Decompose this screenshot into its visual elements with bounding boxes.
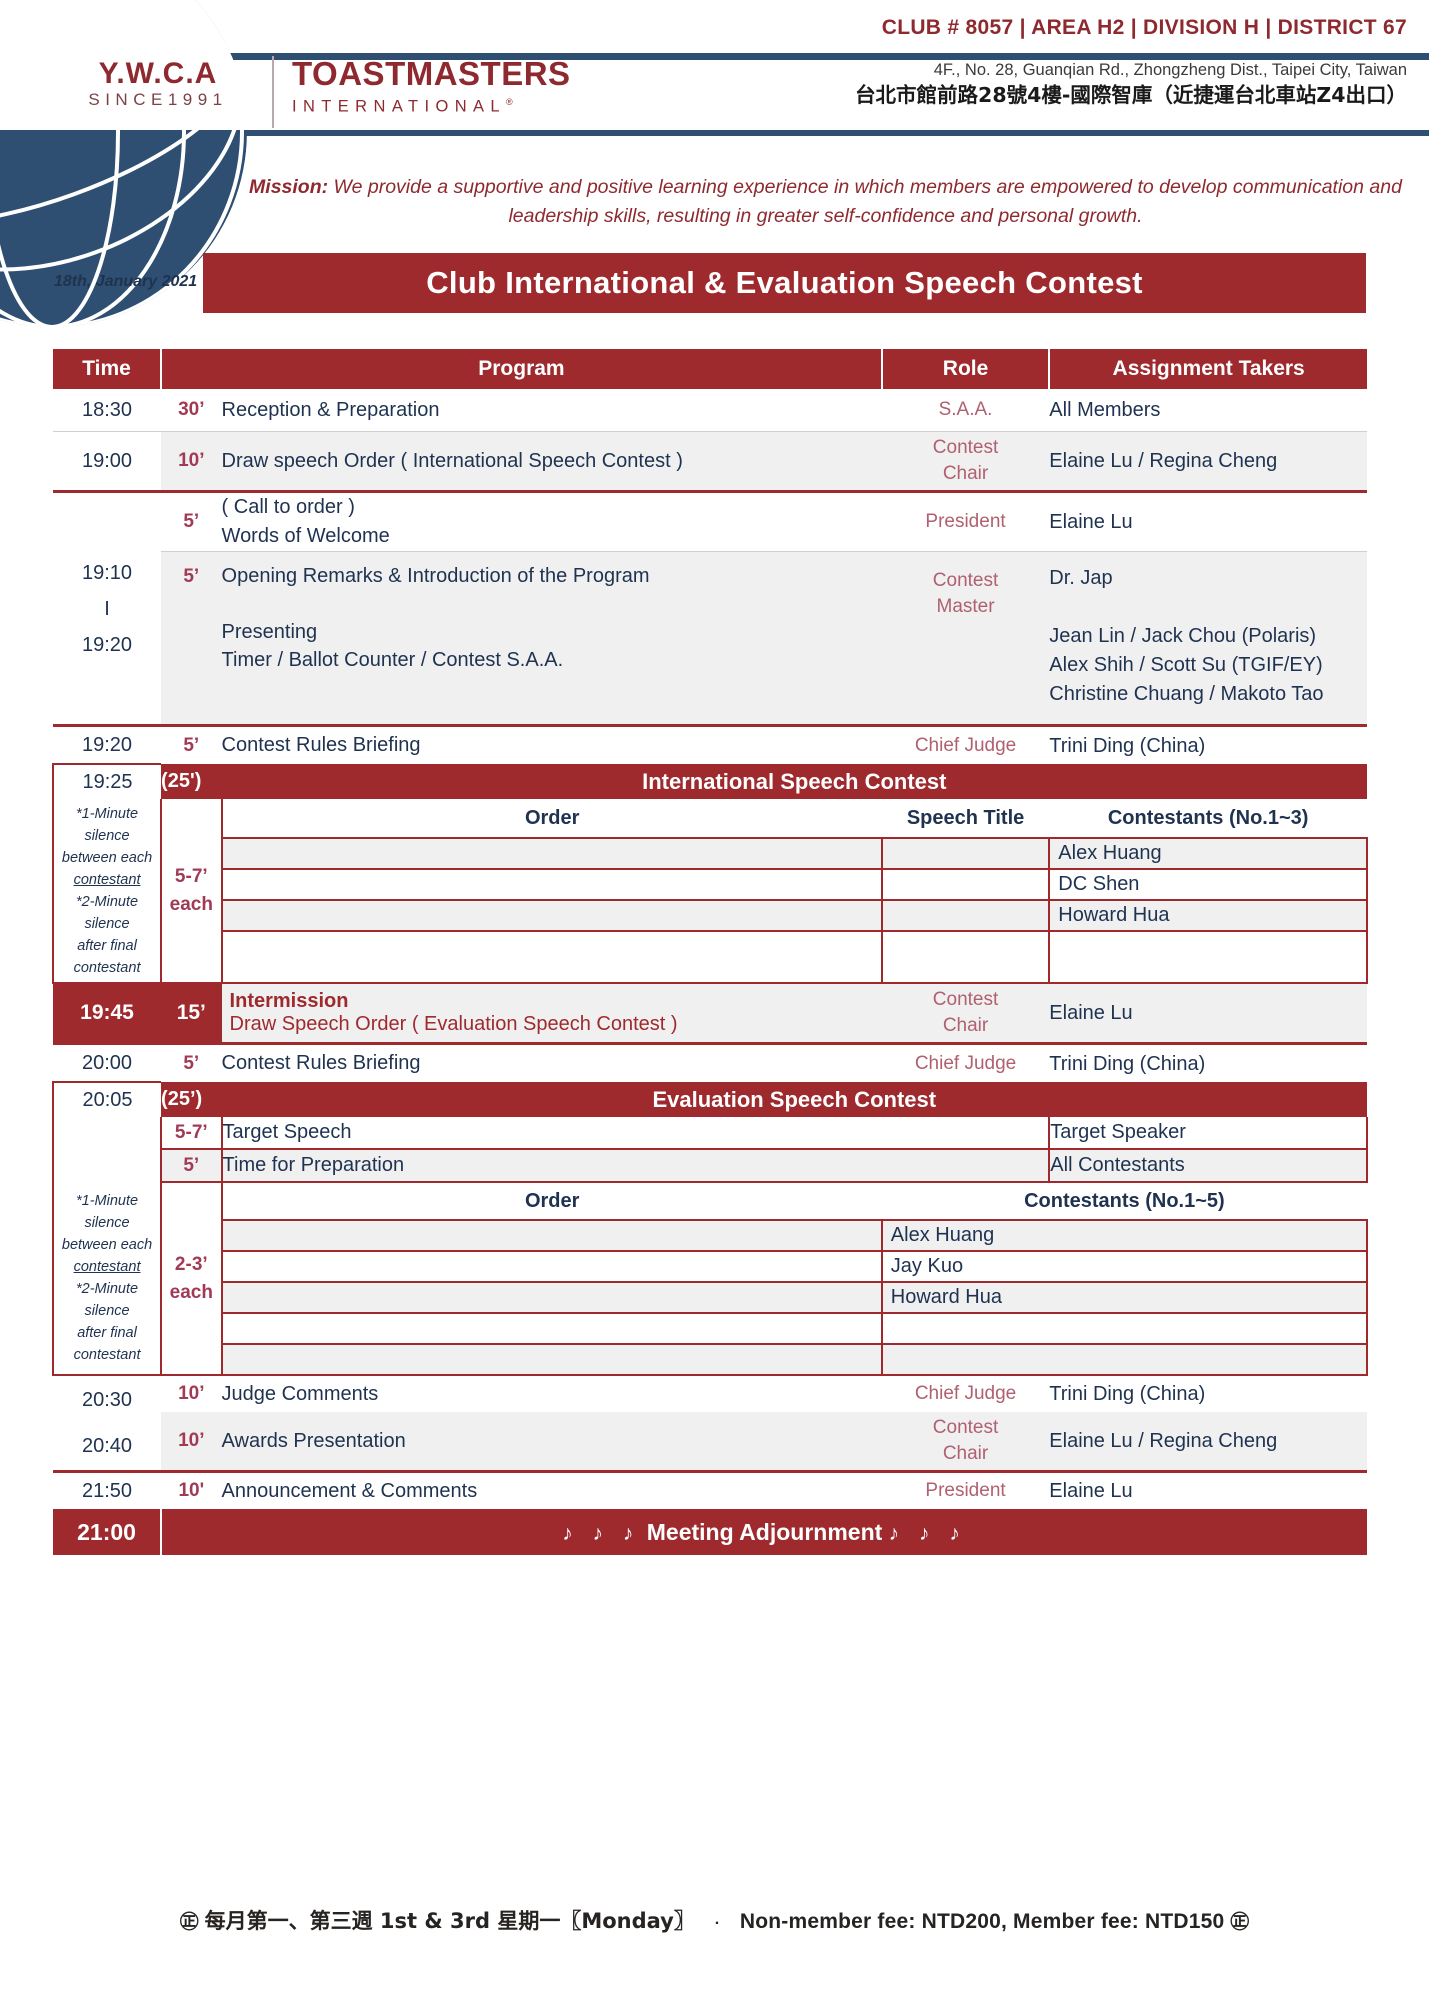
row-program: Reception & Preparation <box>222 389 882 432</box>
intermission-role: Contest Chair <box>882 983 1049 1044</box>
meeting-schedule: 每月第一、第三週 1st & 3rd 星期一〖Monday〗 <box>205 1909 695 1933</box>
intl-contestant-row: Alex Huang <box>53 838 1367 869</box>
adjournment-label: ♪ ♪ ♪ Meeting Adjournment ♪ ♪ ♪ <box>161 1509 1367 1555</box>
eval-contestant-name: Alex Huang <box>882 1220 1367 1251</box>
eval-target-taker: Target Speaker <box>1049 1117 1367 1149</box>
row-role: Contest Chair <box>882 1412 1049 1472</box>
table-row: 5’ Opening Remarks & Introduction of the… <box>53 552 1367 726</box>
eval-duration: 2-3’ each <box>161 1182 222 1375</box>
row-takers: Elaine Lu <box>1049 492 1367 552</box>
table-row: 19:20 5’ Contest Rules Briefing Chief Ju… <box>53 726 1367 765</box>
row-program: ( Call to order ) Words of Welcome <box>222 492 882 552</box>
ywca-logo: Y.W.C.A SINCE1991 <box>58 58 258 110</box>
eval-contestant-name <box>882 1313 1367 1344</box>
eval-order-cell[interactable] <box>222 1344 882 1375</box>
adjournment-time: 21:00 <box>53 1509 161 1555</box>
intermission-subtitle: Draw Speech Order ( Evaluation Speech Co… <box>230 1013 882 1036</box>
row-time: 19:00 <box>53 432 161 492</box>
logo-block: Y.W.C.A SINCE1991 TOASTMASTERS INTERNATI… <box>0 60 1429 130</box>
eval-band-title: Evaluation Speech Contest <box>222 1082 1367 1117</box>
intermission-takers: Elaine Lu <box>1049 983 1367 1044</box>
row-program: Announcement & Comments <box>222 1472 882 1510</box>
eval-contestant-name: Jay Kuo <box>882 1251 1367 1282</box>
seal-right-icon: ㊣ <box>1230 1912 1249 1933</box>
col-header-role: Role <box>882 349 1049 389</box>
row-takers: Trini Ding (China) <box>1049 1375 1367 1412</box>
note-line: after final <box>77 1325 137 1341</box>
row-role: Contest Master <box>882 552 1049 726</box>
music-note-right-icon: ♪ ♪ ♪ <box>889 1522 967 1545</box>
eval-subheader-row: *1-Minute silence between each contestan… <box>53 1182 1367 1220</box>
music-note-left-icon: ♪ ♪ ♪ <box>562 1522 640 1545</box>
col-header-time: Time <box>53 349 161 389</box>
table-row: 19:00 10’ Draw speech Order ( Internatio… <box>53 432 1367 492</box>
mission-label: Mission: <box>249 176 328 198</box>
intl-contestant-row <box>53 931 1367 983</box>
eval-contestant-name <box>882 1344 1367 1375</box>
intl-contest-band: 19:25 (25') International Speech Contest <box>53 764 1367 799</box>
note-line: after final <box>77 938 137 954</box>
row-time: 20:00 <box>53 1044 161 1083</box>
note-line: contestant <box>74 1259 141 1275</box>
intl-speech-title-cell[interactable] <box>882 900 1049 931</box>
row-takers: Trini Ding (China) <box>1049 726 1367 765</box>
row-takers: All Members <box>1049 389 1367 432</box>
eval-contest-band: 20:05 (25’) Evaluation Speech Contest <box>53 1082 1367 1117</box>
row-time: 19:10 I 19:20 <box>53 492 161 726</box>
intl-contestant-name <box>1049 931 1367 983</box>
note-line: between each <box>62 850 152 866</box>
mission-text: We provide a supportive and positive lea… <box>328 176 1402 227</box>
row-program: Contest Rules Briefing <box>222 1044 882 1083</box>
intl-order-cell[interactable] <box>222 931 882 983</box>
eval-target-speech-row: 5-7’ Target Speech Target Speaker <box>53 1117 1367 1149</box>
table-row: 21:50 10' Announcement & Comments Presid… <box>53 1472 1367 1510</box>
row-duration: 5’ <box>161 726 222 765</box>
eval-target-program: Target Speech <box>222 1117 1050 1149</box>
intl-duration: 5-7’ each <box>161 799 222 983</box>
row-time: 19:20 <box>53 726 161 765</box>
row-duration: 10’ <box>161 1375 222 1412</box>
row-role: S.A.A. <box>882 389 1049 432</box>
event-date: 18th, January 2021 <box>54 273 204 291</box>
eval-order-cell[interactable] <box>222 1313 882 1344</box>
page-header: CLUB # 8057 | AREA H2 | DIVISION H | DIS… <box>0 0 1429 330</box>
table-row: 19:10 I 19:20 5’ ( Call to order ) Words… <box>53 492 1367 552</box>
intl-speech-title-cell[interactable] <box>882 869 1049 900</box>
intermission-title: Intermission <box>230 990 882 1013</box>
note-line: *2-Minute <box>76 894 138 910</box>
address-english: 4F., No. 28, Guanqian Rd., Zhongzheng Di… <box>855 58 1407 82</box>
eval-time: 20:05 <box>53 1082 161 1117</box>
row-time: 21:50 <box>53 1472 161 1510</box>
eval-prep-taker: All Contestants <box>1049 1149 1367 1182</box>
row-role: Chief Judge <box>882 726 1049 765</box>
footer-separator: · <box>701 1915 734 1932</box>
toastmasters-logo: TOASTMASTERS INTERNATIONAL® <box>292 56 571 117</box>
row-program: Contest Rules Briefing <box>222 726 882 765</box>
row-duration: 10' <box>161 1472 222 1510</box>
intl-col-order: Order <box>222 799 882 838</box>
row-duration: 30’ <box>161 389 222 432</box>
row-role: Chief Judge <box>882 1375 1049 1412</box>
row-time-start: 20:30 <box>53 1377 161 1423</box>
eval-contestant-name: Howard Hua <box>882 1282 1367 1313</box>
note-line: between each <box>62 1237 152 1253</box>
row-duration: 5’ <box>161 552 222 726</box>
page-footer: ㊣ 每月第一、第三週 1st & 3rd 星期一〖Monday〗 · Non-m… <box>0 1905 1429 1935</box>
note-line: silence <box>84 1303 129 1319</box>
toastmasters-name: TOASTMASTERS <box>292 56 571 92</box>
note-line: contestant <box>74 872 141 888</box>
eval-contestant-row <box>53 1344 1367 1375</box>
intl-note: *1-Minute silence between each contestan… <box>53 799 161 983</box>
table-row: 18:30 30’ Reception & Preparation S.A.A.… <box>53 389 1367 432</box>
table-row: 20:00 5’ Contest Rules Briefing Chief Ju… <box>53 1044 1367 1083</box>
eval-contestant-row: Jay Kuo <box>53 1251 1367 1282</box>
row-duration: 10’ <box>161 1412 222 1472</box>
row-time: 20:30 20:40 <box>53 1375 161 1472</box>
row-duration: 10’ <box>161 432 222 492</box>
intl-contestant-name: DC Shen <box>1049 869 1367 900</box>
table-row: 20:30 20:40 10’ Judge Comments Chief Jud… <box>53 1375 1367 1412</box>
intermission-row: 19:45 15’ Intermission Draw Speech Order… <box>53 983 1367 1044</box>
row-role: Contest Chair <box>882 432 1049 492</box>
intl-contestant-name: Howard Hua <box>1049 900 1367 931</box>
eval-order-cell[interactable] <box>222 1282 882 1313</box>
intermission-program: Intermission Draw Speech Order ( Evaluat… <box>222 983 882 1044</box>
note-line: silence <box>84 916 129 932</box>
intl-contestant-row: DC Shen <box>53 869 1367 900</box>
eval-col-contestants: Contestants (No.1~5) <box>882 1182 1367 1220</box>
adjournment-row: 21:00 ♪ ♪ ♪ Meeting Adjournment ♪ ♪ ♪ <box>53 1509 1367 1555</box>
row-takers: Elaine Lu <box>1049 1472 1367 1510</box>
logo-divider <box>272 56 274 128</box>
title-section: 18th, January 2021 Club International & … <box>0 253 1429 315</box>
row-duration: 5’ <box>161 1044 222 1083</box>
eval-spacer <box>53 1117 161 1149</box>
address-chinese: 台北市館前路28號4樓-國際智庫（近捷運台北車站Z4出口） <box>855 82 1407 109</box>
fee-info: Non-member fee: NTD200, Member fee: NTD1… <box>740 1910 1225 1933</box>
intl-col-speech-title: Speech Title <box>882 799 1049 838</box>
club-address: 4F., No. 28, Guanqian Rd., Zhongzheng Di… <box>855 58 1407 109</box>
mission-statement: Mission: We provide a supportive and pos… <box>238 173 1413 231</box>
eval-contestant-row: Alex Huang <box>53 1220 1367 1251</box>
intl-bracket-duration: (25') <box>161 764 222 799</box>
row-time-end: 20:40 <box>53 1423 161 1469</box>
page-title: Club International & Evaluation Speech C… <box>203 253 1366 313</box>
col-header-takers: Assignment Takers <box>1049 349 1367 389</box>
eval-target-duration: 5-7’ <box>161 1117 222 1149</box>
eval-bracket-duration: (25’) <box>161 1082 222 1117</box>
row-program: Opening Remarks & Introduction of the Pr… <box>222 552 882 726</box>
eval-note: *1-Minute silence between each contestan… <box>53 1182 161 1375</box>
note-line: silence <box>84 828 129 844</box>
note-line: contestant <box>74 1347 141 1363</box>
intl-col-contestants: Contestants (No.1~3) <box>1049 799 1367 838</box>
intl-speech-title-cell[interactable] <box>882 931 1049 983</box>
row-program: Judge Comments <box>222 1375 882 1412</box>
intl-subheader-row: *1-Minute silence between each contestan… <box>53 799 1367 838</box>
intl-contestant-name: Alex Huang <box>1049 838 1367 869</box>
col-header-program: Program <box>161 349 882 389</box>
intl-speech-title-cell[interactable] <box>882 838 1049 869</box>
agenda-table: Time Program Role Assignment Takers 18:3… <box>52 349 1368 1555</box>
row-role: President <box>882 492 1049 552</box>
row-takers: Elaine Lu / Regina Cheng <box>1049 432 1367 492</box>
intl-band-title: International Speech Contest <box>222 764 1367 799</box>
note-line: contestant <box>74 960 141 976</box>
eval-order-cell[interactable] <box>222 1220 882 1251</box>
ywca-since: SINCE1991 <box>58 90 258 110</box>
intl-time: 19:25 <box>53 764 161 799</box>
row-takers: Trini Ding (China) <box>1049 1044 1367 1083</box>
intl-order-cell[interactable] <box>222 838 882 869</box>
toastmasters-sub: INTERNATIONAL® <box>292 92 571 117</box>
note-line: *1-Minute <box>76 1193 138 1209</box>
note-line: silence <box>84 1215 129 1231</box>
table-row: 10’ Awards Presentation Contest Chair El… <box>53 1412 1367 1472</box>
eval-prep-program: Time for Preparation <box>222 1149 1050 1182</box>
intl-contestant-row: Howard Hua <box>53 900 1367 931</box>
eval-contestant-row <box>53 1313 1367 1344</box>
intl-order-cell[interactable] <box>222 869 882 900</box>
table-header-row: Time Program Role Assignment Takers <box>53 349 1367 389</box>
row-role: Chief Judge <box>882 1044 1049 1083</box>
row-program: Draw speech Order ( International Speech… <box>222 432 882 492</box>
note-line: *1-Minute <box>76 806 138 822</box>
title-banner: Club International & Evaluation Speech C… <box>203 253 1366 313</box>
club-identification: CLUB # 8057 | AREA H2 | DIVISION H | DIS… <box>882 16 1407 40</box>
ywca-name: Y.W.C.A <box>58 58 258 90</box>
eval-preparation-row: 5’ Time for Preparation All Contestants <box>53 1149 1367 1182</box>
row-takers: Elaine Lu / Regina Cheng <box>1049 1412 1367 1472</box>
row-duration: 5’ <box>161 492 222 552</box>
row-time: 18:30 <box>53 389 161 432</box>
eval-col-order: Order <box>222 1182 882 1220</box>
row-role: President <box>882 1472 1049 1510</box>
intl-order-cell[interactable] <box>222 900 882 931</box>
row-takers: Dr. Jap Jean Lin / Jack Chou (Polaris) A… <box>1049 552 1367 726</box>
note-line: *2-Minute <box>76 1281 138 1297</box>
intermission-time: 19:45 <box>53 983 161 1044</box>
eval-prep-duration: 5’ <box>161 1149 222 1182</box>
eval-order-cell[interactable] <box>222 1251 882 1282</box>
row-program: Awards Presentation <box>222 1412 882 1472</box>
seal-left-icon: ㊣ <box>180 1912 199 1933</box>
eval-contestant-row: Howard Hua <box>53 1282 1367 1313</box>
adjournment-text: Meeting Adjournment <box>647 1519 883 1545</box>
intermission-duration: 15’ <box>161 983 222 1044</box>
eval-spacer <box>53 1149 161 1182</box>
